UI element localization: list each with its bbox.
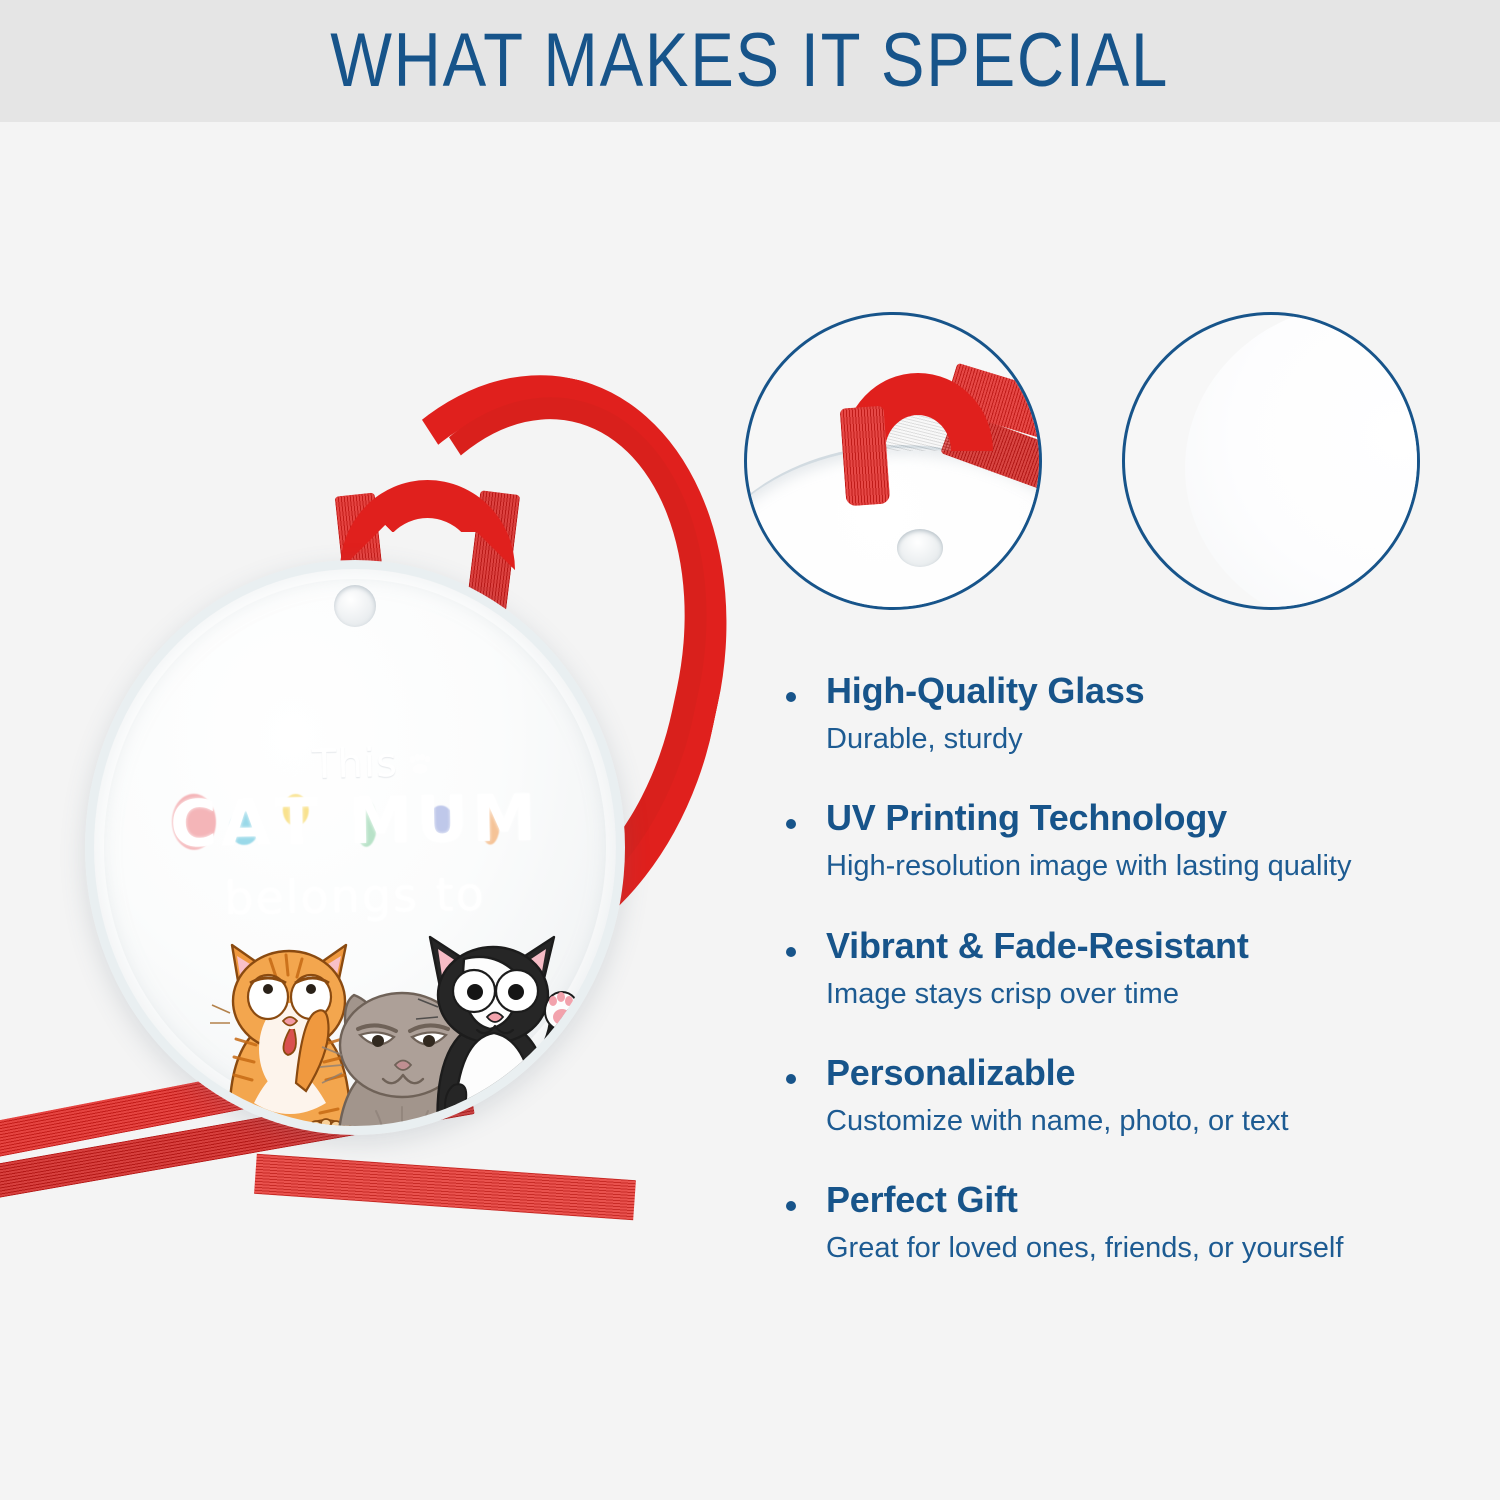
feature-item-vibrant-fade-resistant: Vibrant & Fade-Resistant Image stays cri…	[780, 923, 1440, 1012]
feature-title: High-Quality Glass	[826, 668, 1440, 713]
pet-name-milo: Milo	[424, 1114, 493, 1135]
feature-list: High-Quality Glass Durable, sturdy UV Pr…	[780, 668, 1440, 1304]
detail-ribbon-tail	[840, 406, 891, 507]
paw-print-icon	[410, 756, 430, 774]
ribbon-behind-disc	[254, 1154, 636, 1220]
bullet-icon	[786, 692, 796, 702]
feature-item-high-quality-glass: High-Quality Glass Durable, sturdy	[780, 668, 1440, 757]
feature-title: Personalizable	[826, 1050, 1440, 1095]
feature-title: UV Printing Technology	[826, 795, 1440, 840]
print-letter-M1: M	[348, 784, 417, 859]
detail-bevel-facets	[1181, 312, 1420, 610]
detail-hanger-hole	[897, 529, 943, 567]
print-line-belongs: belongs to	[94, 864, 617, 927]
detail-circle-ribbon-hanger	[744, 312, 1042, 610]
print-letter-M2: M	[472, 782, 541, 857]
feature-item-personalizable: Personalizable Customize with name, phot…	[780, 1050, 1440, 1139]
feature-item-perfect-gift: Perfect Gift Great for loved ones, frien…	[780, 1177, 1440, 1266]
cat-milo	[414, 929, 594, 1135]
feature-description: Image stays crisp over time	[826, 976, 1440, 1012]
bullet-icon	[786, 1074, 796, 1084]
print-letter-U: U	[416, 783, 473, 858]
header-band: WHAT MAKES IT SPECIAL	[0, 0, 1500, 122]
product-image: This C A T M U M belongs to	[0, 122, 750, 1500]
page-title: WHAT MAKES IT SPECIAL	[331, 23, 1170, 99]
print-letter-T: T	[274, 786, 323, 861]
bullet-icon	[786, 819, 796, 829]
print-line-catmum: C A T M U M	[93, 780, 616, 863]
feature-title: Perfect Gift	[826, 1177, 1440, 1222]
product-stage: This C A T M U M belongs to	[0, 122, 750, 1500]
feature-item-uv-printing-technology: UV Printing Technology High-resolution i…	[780, 795, 1440, 884]
print-text-this: This	[312, 740, 399, 788]
feature-description: High-resolution image with lasting quali…	[826, 848, 1440, 884]
pet-illustrations	[94, 921, 616, 1135]
ornament-printed-artwork: This C A T M U M belongs to	[94, 569, 616, 1126]
print-letter-A: A	[220, 786, 275, 861]
feature-title: Vibrant & Fade-Resistant	[826, 923, 1440, 968]
paw-print-icon	[280, 759, 300, 777]
bullet-icon	[786, 947, 796, 957]
ornament-disc: This C A T M U M belongs to	[85, 560, 625, 1135]
print-letter-C: C	[169, 787, 221, 862]
feature-description: Customize with name, photo, or text	[826, 1103, 1440, 1139]
bullet-icon	[786, 1201, 796, 1211]
feature-description: Durable, sturdy	[826, 721, 1440, 757]
detail-circle-beveled-edge	[1122, 312, 1420, 610]
feature-description: Great for loved ones, friends, or yourse…	[826, 1230, 1440, 1266]
